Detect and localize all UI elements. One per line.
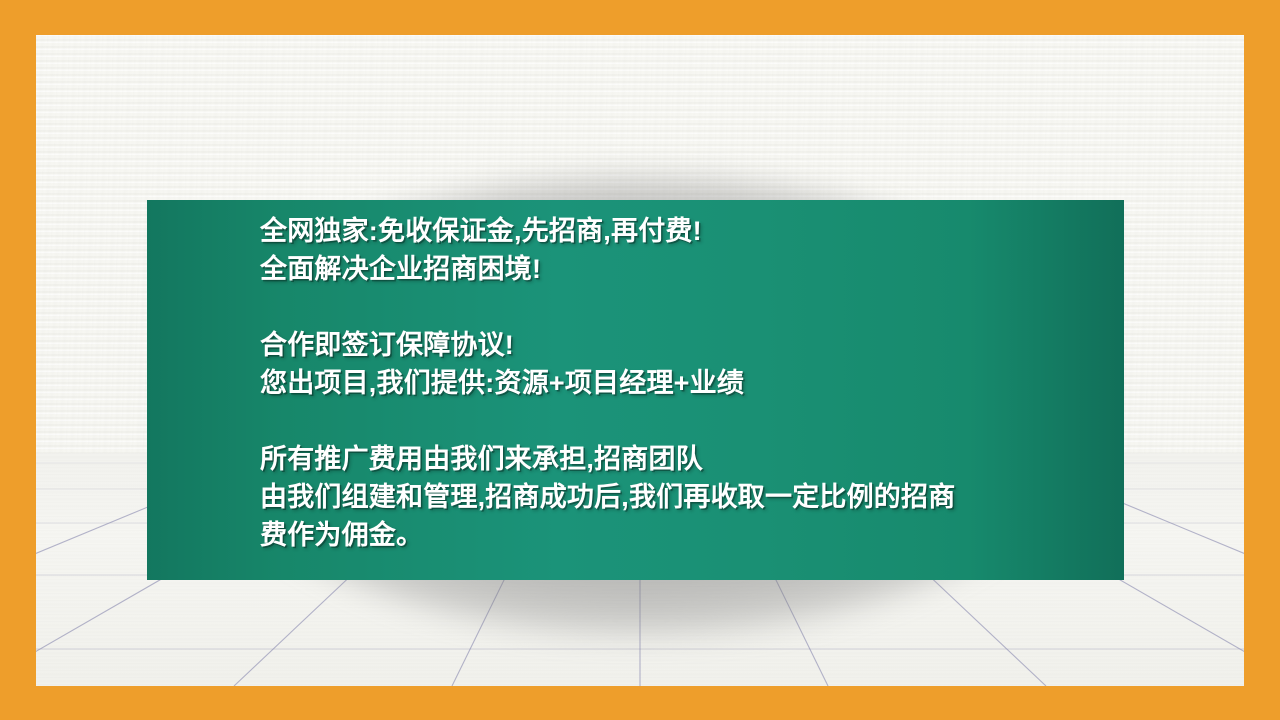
promo-line-2: 全面解决企业招商困境! xyxy=(260,250,1114,288)
slide-root: 全网独家:免收保证金,先招商,再付费! 全面解决企业招商困境! 合作即签订保障协… xyxy=(0,0,1280,720)
promo-line-9: 费作为佣金。 xyxy=(260,516,1114,554)
promo-line-4: 合作即签订保障协议! xyxy=(260,326,1114,364)
promo-line-5: 您出项目,我们提供:资源+项目经理+业绩 xyxy=(260,364,1114,402)
promo-line-8: 由我们组建和管理,招商成功后,我们再收取一定比例的招商 xyxy=(260,478,1114,516)
promo-panel: 全网独家:免收保证金,先招商,再付费! 全面解决企业招商困境! 合作即签订保障协… xyxy=(147,200,1124,580)
promo-line-7: 所有推广费用由我们来承担,招商团队 xyxy=(260,440,1114,478)
promo-line-6 xyxy=(260,402,1114,440)
promo-line-1: 全网独家:免收保证金,先招商,再付费! xyxy=(260,212,1114,250)
promo-text-block: 全网独家:免收保证金,先招商,再付费! 全面解决企业招商困境! 合作即签订保障协… xyxy=(260,212,1114,554)
promo-line-3 xyxy=(260,288,1114,326)
room-background: 全网独家:免收保证金,先招商,再付费! 全面解决企业招商困境! 合作即签订保障协… xyxy=(36,35,1244,686)
